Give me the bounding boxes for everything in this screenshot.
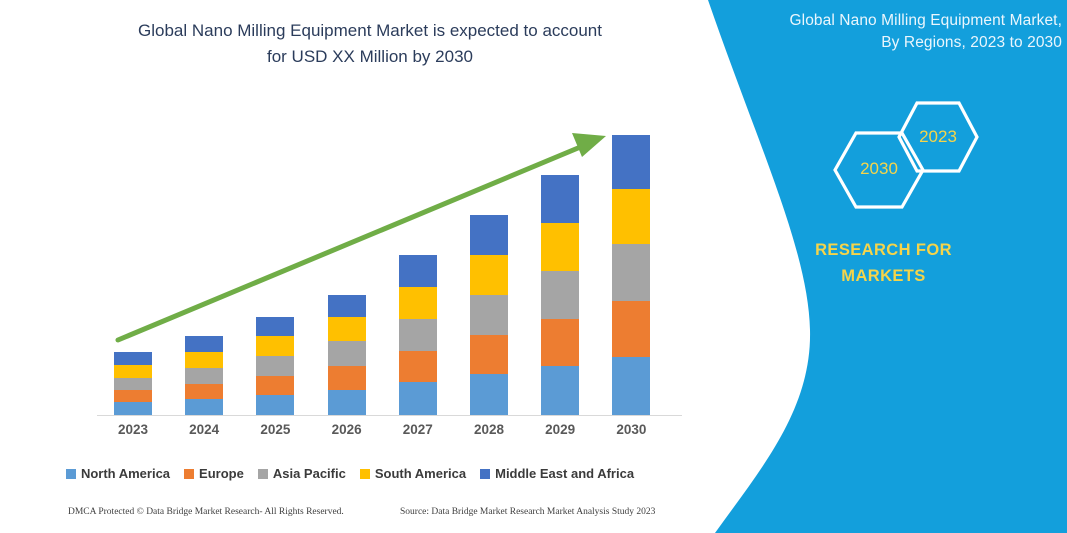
x-axis-label-2026: 2026 — [312, 422, 382, 437]
right-panel-title: Global Nano Milling Equipment Market, By… — [710, 10, 1062, 55]
hexagon-2030-label: 2030 — [832, 159, 926, 179]
x-axis-label-2027: 2027 — [383, 422, 453, 437]
x-axis-label-2029: 2029 — [525, 422, 595, 437]
legend-label: Asia Pacific — [273, 466, 346, 481]
trend-arrow-icon — [0, 0, 700, 420]
legend-label: Middle East and Africa — [495, 466, 634, 481]
x-axis-label-2030: 2030 — [596, 422, 666, 437]
right-panel-title-line1: Global Nano Milling Equipment Market, — [790, 12, 1063, 29]
brand-line1: RESEARCH FOR — [815, 241, 952, 259]
legend-swatch-icon — [360, 469, 370, 479]
hexagon-group: 2023 2030 — [820, 100, 1020, 220]
brand-line2: MARKETS — [841, 267, 925, 285]
x-axis-label-2024: 2024 — [169, 422, 239, 437]
x-axis-labels: 20232024202520262027202820292030 — [0, 422, 700, 446]
footer: DMCA Protected © Data Bridge Market Rese… — [0, 507, 700, 527]
legend-label: North America — [81, 466, 170, 481]
legend-item-0[interactable]: North America — [66, 466, 170, 481]
footer-copyright: DMCA Protected © Data Bridge Market Rese… — [68, 507, 344, 517]
legend-item-2[interactable]: Asia Pacific — [258, 466, 346, 481]
right-panel-title-line2: By Regions, 2023 to 2030 — [881, 34, 1062, 51]
infographic-root: Global Nano Milling Equipment Market, By… — [0, 0, 1067, 533]
chart-legend: North AmericaEuropeAsia PacificSouth Ame… — [0, 466, 700, 481]
footer-source: Source: Data Bridge Market Research Mark… — [400, 507, 655, 517]
legend-swatch-icon — [258, 469, 268, 479]
legend-swatch-icon — [66, 469, 76, 479]
chart-plot-area: 20232024202520262027202820292030 — [0, 0, 700, 460]
legend-item-1[interactable]: Europe — [184, 466, 244, 481]
x-axis-label-2025: 2025 — [240, 422, 310, 437]
legend-item-3[interactable]: South America — [360, 466, 466, 481]
brand-wordmark: RESEARCH FOR MARKETS — [700, 238, 1067, 289]
legend-swatch-icon — [480, 469, 490, 479]
legend-label: South America — [375, 466, 466, 481]
right-panel-content: Global Nano Milling Equipment Market, By… — [700, 0, 1067, 533]
x-axis-label-2028: 2028 — [454, 422, 524, 437]
legend-swatch-icon — [184, 469, 194, 479]
legend-item-4[interactable]: Middle East and Africa — [480, 466, 634, 481]
x-axis-label-2023: 2023 — [98, 422, 168, 437]
legend-label: Europe — [199, 466, 244, 481]
